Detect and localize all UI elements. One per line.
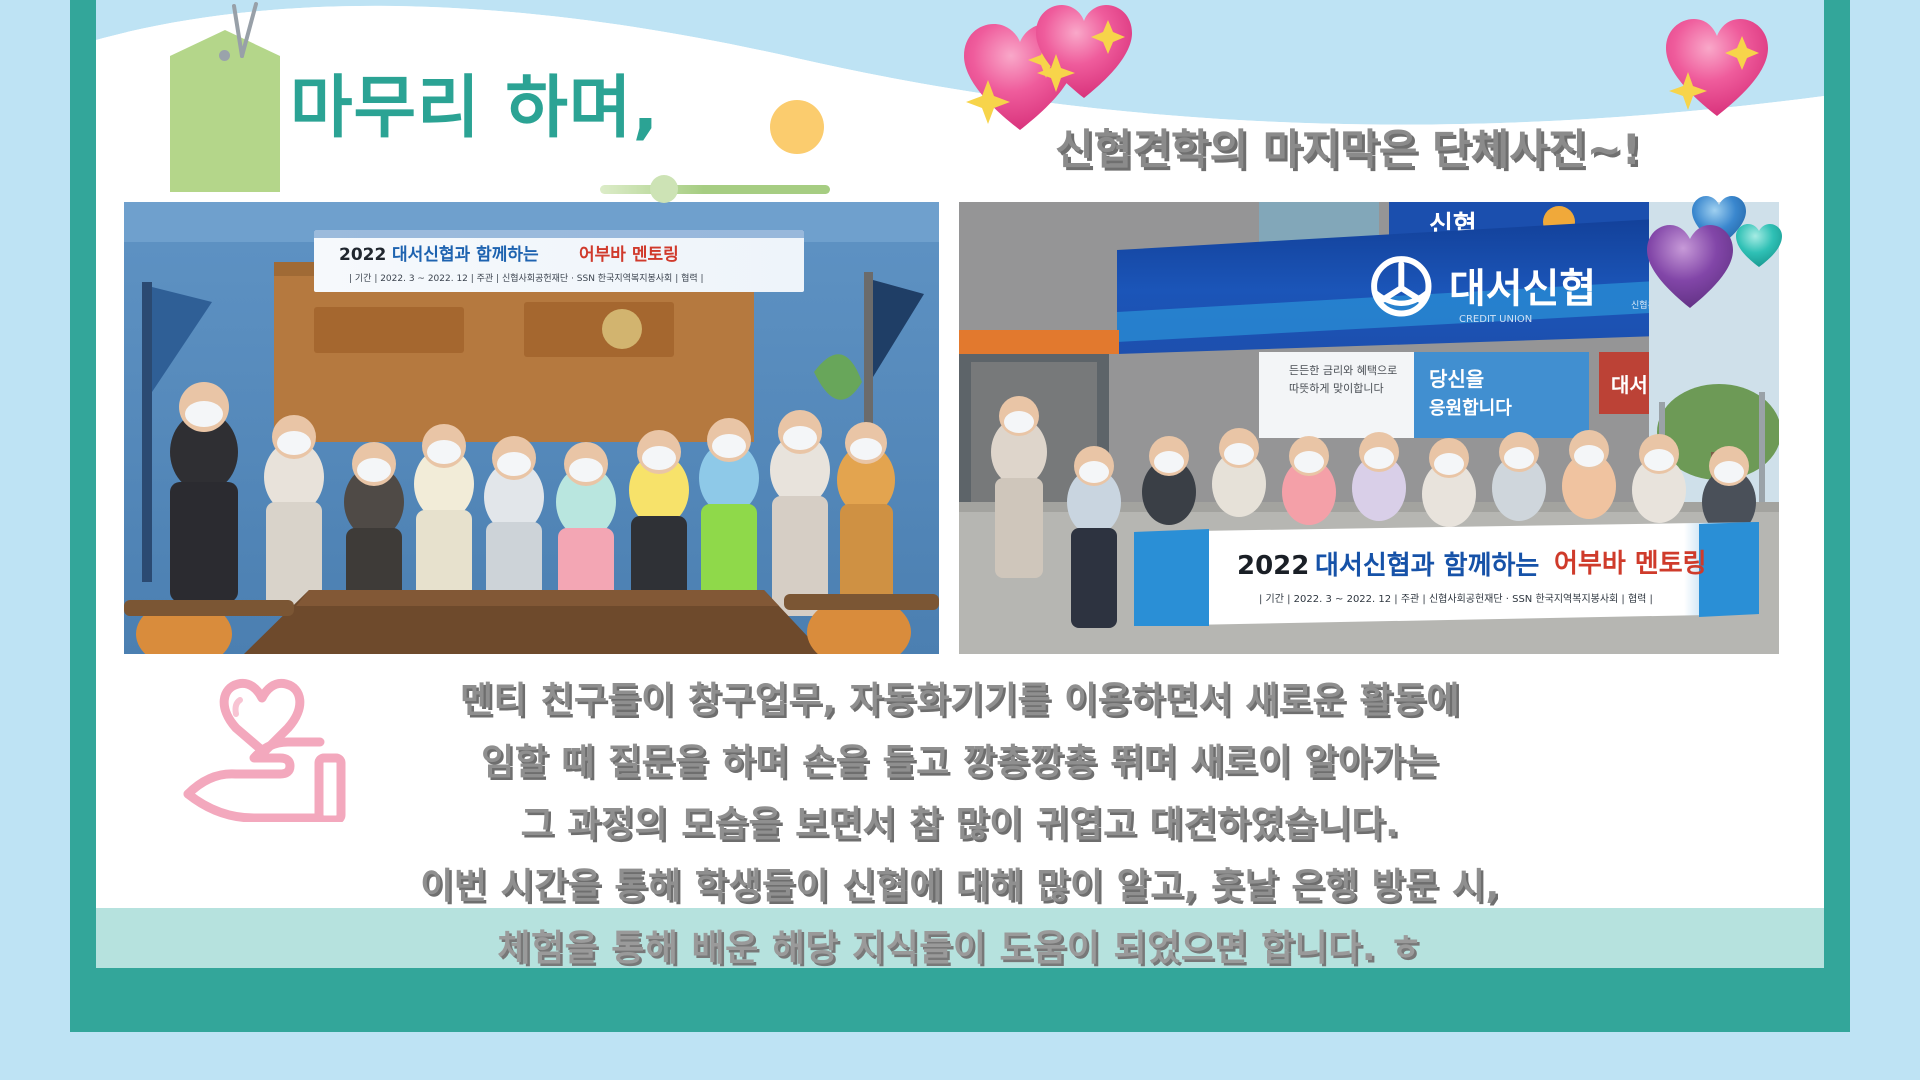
body-line: 임할 때 질문을 하며 손을 들고 깡총깡총 뛰며 새로이 알아가는	[96, 732, 1824, 794]
svg-text:| 기간 | 2022. 3 ~ 2022. 12 |: | 기간 | 2022. 3 ~ 2022. 12 | 주관 | 신협사회공헌재…	[1259, 592, 1653, 605]
svg-text:든든한 금리와 혜택으로: 든든한 금리와 혜택으로	[1289, 364, 1397, 377]
svg-text:대서신협과 함께하는: 대서신협과 함께하는	[1315, 551, 1539, 581]
svg-text:대서신협과 함께하는: 대서신협과 함께하는	[392, 244, 539, 265]
svg-text:2022: 2022	[339, 245, 386, 265]
svg-text:| 기간 | 2022. 3 ~ 2022. 12 |: | 기간 | 2022. 3 ~ 2022. 12 | 주관 | 신협사회공헌재…	[349, 272, 704, 284]
body-line: 체험을 통해 배운 해당 지식들이 도움이 되었으면 합니다. ㅎ	[96, 918, 1824, 980]
svg-text:당신을: 당신을	[1429, 367, 1484, 391]
svg-text:CREDIT UNION: CREDIT UNION	[1459, 314, 1532, 325]
yellow-circle-icon	[770, 100, 824, 154]
divider-node-icon	[650, 175, 678, 203]
body-line: 그 과정의 모습을 보면서 참 많이 귀엽고 대견하였습니다.	[96, 794, 1824, 856]
body-paragraph: 멘티 친구들이 창구업무, 자동화기기를 이용하면서 새로운 활동에 임할 때 …	[96, 670, 1824, 980]
tag-string-icon	[212, 2, 272, 58]
svg-text:응원합니다: 응원합니다	[1429, 397, 1512, 419]
body-line: 멘티 친구들이 창구업무, 자동화기기를 이용하면서 새로운 활동에	[96, 670, 1824, 732]
tag-hole-icon	[219, 50, 230, 61]
svg-text:2022: 2022	[1237, 551, 1309, 581]
page-title: 마무리 하며,	[290, 52, 659, 151]
svg-text:따뜻하게 맞이합니다: 따뜻하게 맞이합니다	[1289, 381, 1384, 395]
pink-sparkle-heart-icon	[1032, 0, 1136, 104]
svg-text:어부바 멘토링: 어부바 멘토링	[1554, 549, 1707, 579]
svg-text:대서: 대서	[1611, 373, 1648, 397]
photo-left-illustration: 2022 대서신협과 함께하는 어부바 멘토링 | 기간 | 2022. 3 ~…	[124, 202, 939, 654]
body-line: 이번 시간을 통해 학생들이 신협에 대해 많이 알고, 훗날 은행 방문 시,	[96, 856, 1824, 918]
purple-heart-icon	[1644, 222, 1736, 312]
svg-text:대서신협: 대서신협	[1449, 266, 1596, 312]
divider-line	[600, 185, 830, 194]
slide-root: 마무리 하며, 신협견학의 마지막은 단체사진~!	[0, 0, 1920, 1080]
pink-sparkle-heart-icon	[1662, 14, 1772, 122]
section-headline: 신협견학의 마지막은 단체사진~!	[1055, 116, 1641, 177]
svg-text:어부바 멘토링: 어부바 멘토링	[579, 245, 679, 265]
teal-heart-icon	[1734, 222, 1784, 270]
photo-left: 2022 대서신협과 함께하는 어부바 멘토링 | 기간 | 2022. 3 ~…	[124, 202, 939, 654]
